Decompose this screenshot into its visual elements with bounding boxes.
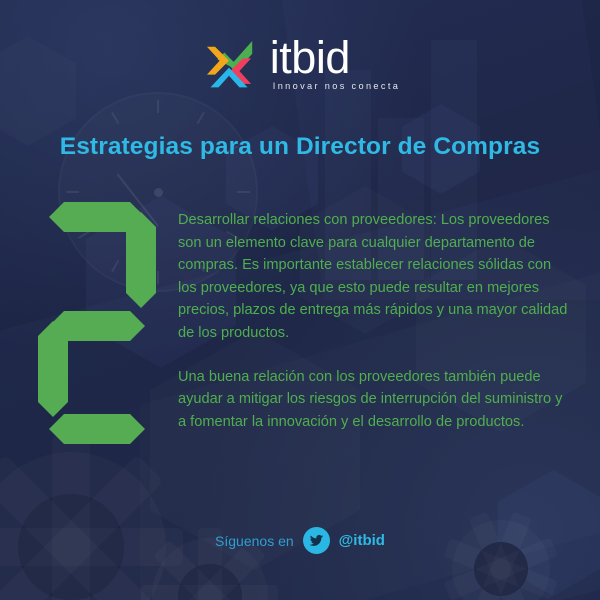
brand-logo: itbid Innovar nos conecta <box>0 34 600 92</box>
bg-gear-icon-large <box>0 452 166 600</box>
twitter-handle[interactable]: @itbid <box>339 532 385 549</box>
follow-label: Síguenos en <box>215 533 294 549</box>
brand-name: itbid <box>270 37 350 78</box>
segment-top-right <box>126 212 156 308</box>
twitter-bird-icon[interactable] <box>303 527 330 554</box>
paragraph-1: Desarrollar relaciones con proveedores: … <box>178 209 570 345</box>
paragraph-2: Una buena relación con los proveedores t… <box>178 366 570 434</box>
brand-wordmark: itbid Innovar nos conecta <box>270 35 400 91</box>
itbid-x-mark-icon <box>200 34 258 92</box>
body-copy: Desarrollar relaciones con proveedores: … <box>178 209 570 433</box>
brand-tagline: Innovar nos conecta <box>270 81 400 91</box>
segment-bottom-left <box>38 321 68 417</box>
infographic-poster: itbid Innovar nos conecta Estrategias pa… <box>0 0 600 600</box>
page-title: Estrategias para un Director de Compras <box>0 133 600 161</box>
segment-bottom <box>49 414 145 444</box>
step-number-2 <box>38 198 156 448</box>
social-footer: Síguenos en @itbid <box>0 527 600 554</box>
